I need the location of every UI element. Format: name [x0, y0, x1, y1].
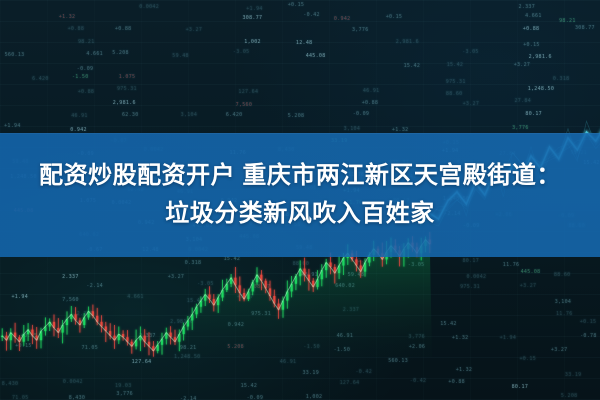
headline-banner: 配资炒股配资开户 重庆市两江新区天宫殿街道： 垃圾分类新风吹入百姓家 — [0, 133, 600, 257]
page-title: 配资炒股配资开户 重庆市两江新区天宫殿街道： 垃圾分类新风吹入百姓家 — [0, 157, 600, 233]
title-line-2: 垃圾分类新风吹入百姓家 — [0, 195, 600, 233]
title-line-1: 配资炒股配资开户 重庆市两江新区天宫殿街道： — [39, 162, 561, 189]
promo-banner-image: 0.0042+1.94+0.152.337+1.32308.77-0.420.9… — [0, 0, 600, 400]
chart-area-fill — [0, 240, 432, 357]
